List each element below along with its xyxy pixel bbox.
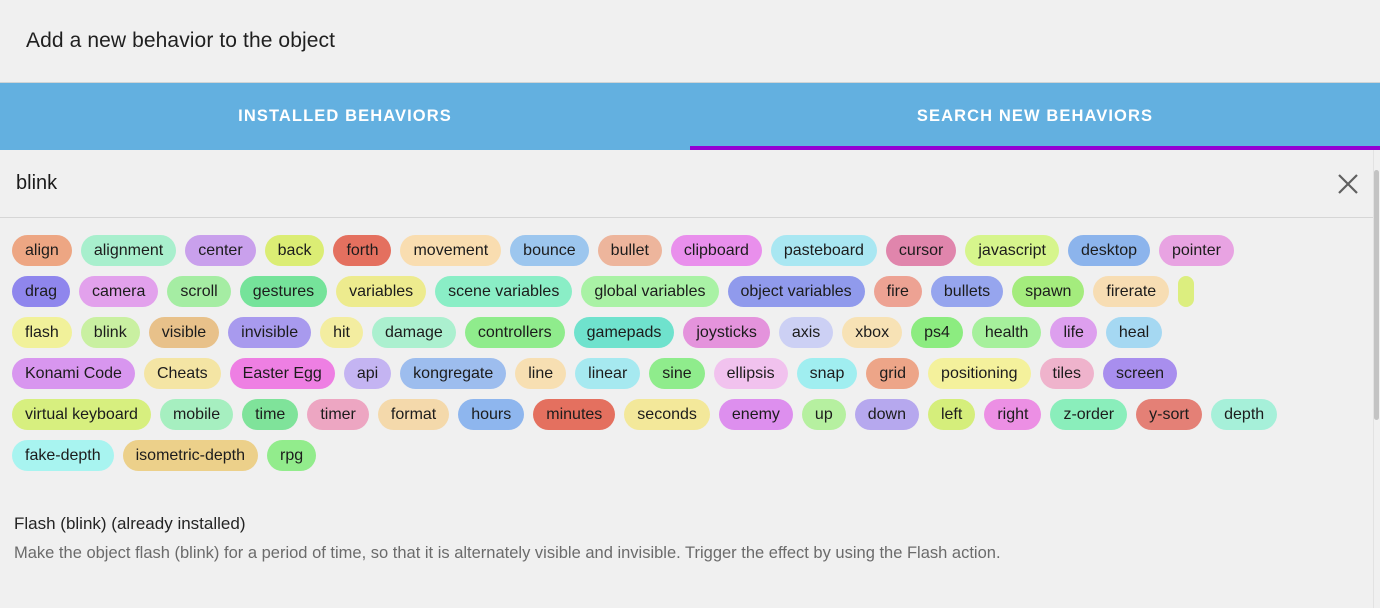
- tag-tiles[interactable]: tiles: [1040, 358, 1094, 389]
- tag-movement[interactable]: movement: [400, 235, 501, 266]
- scrollbar-thumb[interactable]: [1374, 170, 1379, 420]
- tag-camera[interactable]: camera: [79, 276, 158, 307]
- tag-bullet[interactable]: bullet: [598, 235, 662, 266]
- tab-underline-inactive: [0, 146, 690, 150]
- tag-global-variables[interactable]: global variables: [581, 276, 718, 307]
- tag-line[interactable]: line: [515, 358, 566, 389]
- tag-axis[interactable]: axis: [779, 317, 833, 348]
- tab-installed-behaviors-label: INSTALLED BEHAVIORS: [238, 107, 452, 126]
- tab-search-new-behaviors-label: SEARCH NEW BEHAVIORS: [917, 107, 1153, 126]
- tag-heal[interactable]: heal: [1106, 317, 1162, 348]
- tag-invisible[interactable]: invisible: [228, 317, 311, 348]
- tag-damage[interactable]: damage: [372, 317, 456, 348]
- tag-row: flashblinkvisibleinvisiblehitdamagecontr…: [12, 312, 1368, 353]
- tag-variables[interactable]: variables: [336, 276, 426, 307]
- tag-gestures[interactable]: gestures: [240, 276, 327, 307]
- tag-isometric-depth[interactable]: isometric-depth: [123, 440, 258, 471]
- tag-center[interactable]: center: [185, 235, 255, 266]
- tag-time[interactable]: time: [242, 399, 298, 430]
- tab-search-new-behaviors[interactable]: SEARCH NEW BEHAVIORS: [690, 83, 1380, 150]
- tag-grid[interactable]: grid: [866, 358, 919, 389]
- tag-hit[interactable]: hit: [320, 317, 363, 348]
- tag-left[interactable]: left: [928, 399, 975, 430]
- tag-linear[interactable]: linear: [575, 358, 640, 389]
- tag-back[interactable]: back: [265, 235, 325, 266]
- tag-enemy[interactable]: enemy: [719, 399, 793, 430]
- tag-controllers[interactable]: controllers: [465, 317, 565, 348]
- result-description: Flash (blink) (already installed) Make t…: [0, 480, 1380, 564]
- tag-right[interactable]: right: [984, 399, 1041, 430]
- tag-blank[interactable]: [1178, 276, 1194, 307]
- tag-forth[interactable]: forth: [333, 235, 391, 266]
- tag-cheats[interactable]: Cheats: [144, 358, 221, 389]
- tab-underline-active: [690, 146, 1380, 150]
- clear-search-button[interactable]: [1316, 150, 1380, 218]
- tag-depth[interactable]: depth: [1211, 399, 1277, 430]
- tag-hours[interactable]: hours: [458, 399, 524, 430]
- tag-mobile[interactable]: mobile: [160, 399, 233, 430]
- tag-format[interactable]: format: [378, 399, 449, 430]
- tag-visible[interactable]: visible: [149, 317, 219, 348]
- tag-align[interactable]: align: [12, 235, 72, 266]
- tag-pasteboard[interactable]: pasteboard: [771, 235, 877, 266]
- tag-flash[interactable]: flash: [12, 317, 72, 348]
- tag-easter-egg[interactable]: Easter Egg: [230, 358, 335, 389]
- tag-life[interactable]: life: [1050, 317, 1096, 348]
- close-icon: [1335, 171, 1361, 197]
- tag-y-sort[interactable]: y-sort: [1136, 399, 1202, 430]
- dialog-header: Add a new behavior to the object: [0, 0, 1380, 82]
- tag-snap[interactable]: snap: [797, 358, 858, 389]
- result-body: Make the object flash (blink) for a peri…: [14, 542, 1366, 564]
- result-title: Flash (blink) (already installed): [14, 514, 1366, 534]
- tag-blink[interactable]: blink: [81, 317, 140, 348]
- tag-row: Konami CodeCheatsEaster Eggapikongregate…: [12, 353, 1368, 394]
- tag-cursor[interactable]: cursor: [886, 235, 956, 266]
- tag-fire[interactable]: fire: [874, 276, 922, 307]
- tag-alignment[interactable]: alignment: [81, 235, 176, 266]
- tag-bounce[interactable]: bounce: [510, 235, 589, 266]
- tag-timer[interactable]: timer: [307, 399, 369, 430]
- tab-installed-behaviors[interactable]: INSTALLED BEHAVIORS: [0, 83, 690, 150]
- tab-bar: INSTALLED BEHAVIORS SEARCH NEW BEHAVIORS: [0, 82, 1380, 150]
- tag-kongregate[interactable]: kongregate: [400, 358, 506, 389]
- tag-virtual-keyboard[interactable]: virtual keyboard: [12, 399, 151, 430]
- tag-row: virtual keyboardmobiletimetimerformathou…: [12, 394, 1368, 435]
- tag-rpg[interactable]: rpg: [267, 440, 316, 471]
- tag-spawn[interactable]: spawn: [1012, 276, 1084, 307]
- tag-up[interactable]: up: [802, 399, 846, 430]
- tag-xbox[interactable]: xbox: [842, 317, 902, 348]
- tag-clipboard[interactable]: clipboard: [671, 235, 762, 266]
- tag-gamepads[interactable]: gamepads: [574, 317, 675, 348]
- tag-object-variables[interactable]: object variables: [728, 276, 865, 307]
- tag-javascript[interactable]: javascript: [965, 235, 1059, 266]
- tag-minutes[interactable]: minutes: [533, 399, 615, 430]
- tag-row: alignalignmentcenterbackforthmovementbou…: [12, 230, 1368, 271]
- page-title: Add a new behavior to the object: [26, 29, 335, 53]
- tag-pointer[interactable]: pointer: [1159, 235, 1234, 266]
- tag-cloud: alignalignmentcenterbackforthmovementbou…: [0, 218, 1380, 480]
- tag-down[interactable]: down: [855, 399, 919, 430]
- tag-ellipsis[interactable]: ellipsis: [714, 358, 788, 389]
- tag-row: fake-depthisometric-depthrpg: [12, 435, 1368, 476]
- tag-screen[interactable]: screen: [1103, 358, 1177, 389]
- tag-sine[interactable]: sine: [649, 358, 704, 389]
- tag-konami-code[interactable]: Konami Code: [12, 358, 135, 389]
- tag-bullets[interactable]: bullets: [931, 276, 1003, 307]
- tag-health[interactable]: health: [972, 317, 1042, 348]
- tag-ps4[interactable]: ps4: [911, 317, 963, 348]
- tag-scene-variables[interactable]: scene variables: [435, 276, 572, 307]
- tag-firerate[interactable]: firerate: [1093, 276, 1169, 307]
- tag-drag[interactable]: drag: [12, 276, 70, 307]
- tag-row: dragcamerascrollgesturesvariablesscene v…: [12, 271, 1368, 312]
- add-behavior-dialog: Add a new behavior to the object INSTALL…: [0, 0, 1380, 608]
- tag-z-order[interactable]: z-order: [1050, 399, 1127, 430]
- tag-joysticks[interactable]: joysticks: [683, 317, 769, 348]
- search-input[interactable]: [16, 172, 1316, 195]
- tag-scroll[interactable]: scroll: [167, 276, 230, 307]
- tag-positioning[interactable]: positioning: [928, 358, 1031, 389]
- search-bar: [0, 150, 1380, 218]
- tag-api[interactable]: api: [344, 358, 391, 389]
- tag-fake-depth[interactable]: fake-depth: [12, 440, 114, 471]
- vertical-scrollbar[interactable]: [1373, 150, 1380, 608]
- tag-desktop[interactable]: desktop: [1068, 235, 1150, 266]
- tag-seconds[interactable]: seconds: [624, 399, 710, 430]
